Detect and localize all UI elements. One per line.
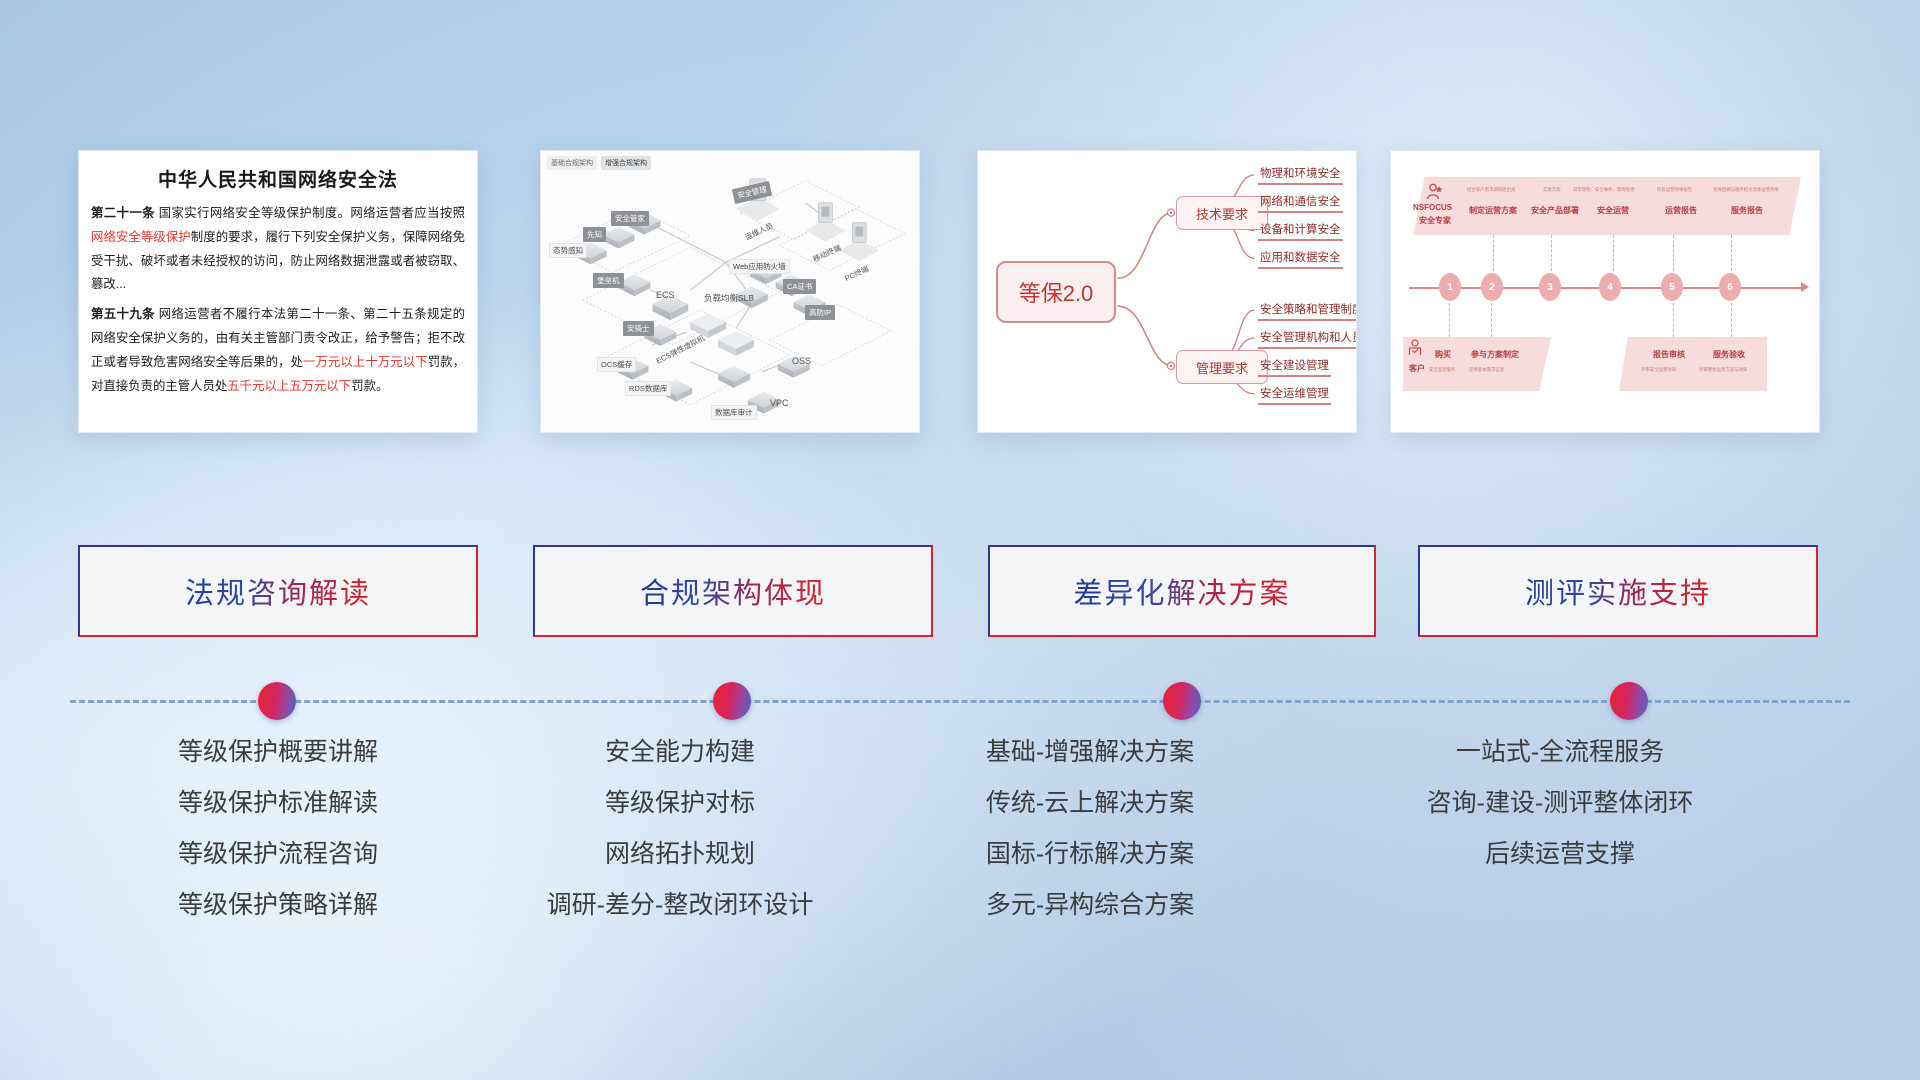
- nsfocus-step-node-3[interactable]: 3: [1539, 273, 1561, 301]
- nsfocus-customer-label: 客户: [1409, 363, 1425, 374]
- detail-column-1: 等级保护概要讲解 等级保护标准解读 等级保护流程咨询 等级保护策略详解: [78, 740, 478, 944]
- mindmap-leaf-network-comm: 网络和通信安全: [1258, 193, 1343, 213]
- law-article-59: 第五十九条 网络运营者不履行本法第二十一条、第二十五条规定的网络安全保护义务的，…: [91, 303, 465, 398]
- detail-item: 安全能力构建: [470, 740, 890, 765]
- nsfocus-bottom-sub-2: 提供基本需求信息: [1469, 367, 1504, 373]
- detail-column-3: 基础-增强解决方案 传统-云上解决方案 国标-行标解决方案 多元-异构综合方案: [880, 740, 1300, 944]
- arch-label-bastion-host: 堡垒机: [593, 273, 624, 288]
- nsfocus-leader-9: [1731, 303, 1732, 337]
- detail-item: 等级保护概要讲解: [78, 740, 478, 765]
- card-cloud-architecture[interactable]: 基础合规架构 增强合规架构: [540, 150, 920, 433]
- nsfocus-top-title-4: 运营报告: [1665, 205, 1697, 216]
- law-article-59-highlight-1: 一万元以上十万元以下: [303, 355, 428, 369]
- timeline: [0, 700, 1920, 704]
- nsfocus-leader-8: [1673, 303, 1674, 337]
- detail-item: 国标-行标解决方案: [880, 842, 1300, 867]
- detail-item: 一站式-全流程服务: [1320, 740, 1800, 765]
- nsfocus-top-sub-5: 总体回顾与服务结论总体运营效果: [1713, 187, 1779, 193]
- nsfocus-leader-1: [1493, 235, 1494, 271]
- arch-label-xianzhi: 先知: [583, 227, 606, 242]
- nsfocus-leader-7: [1491, 303, 1492, 337]
- arch-label-waf: Web应用防火墙: [729, 259, 790, 274]
- timeline-dashed-line: [70, 700, 1850, 703]
- nsfocus-bottom-title-3: 报告审核: [1653, 349, 1685, 360]
- nsfocus-leader-6: [1449, 303, 1450, 337]
- law-article-21-text1: 国家实行网络安全等级保护制度。网络运营者应当按照: [159, 206, 465, 220]
- detail-columns: 等级保护概要讲解 等级保护标准解读 等级保护流程咨询 等级保护策略详解 安全能力…: [0, 740, 1920, 970]
- nsfocus-top-title-5: 服务报告: [1731, 205, 1763, 216]
- law-body: 第二十一条 国家实行网络安全等级保护制度。网络运营者应当按照网络安全等级保护制度…: [79, 202, 477, 415]
- arch-label-anqishi: 安骑士: [623, 321, 654, 336]
- timeline-dot-4[interactable]: [1610, 682, 1648, 720]
- detail-item: 基础-增强解决方案: [880, 740, 1300, 765]
- nsfocus-leader-4: [1673, 235, 1674, 271]
- nsfocus-diagram: NSFOCUS 安全专家 结合客户需求调研后出具 制定运营方案 实施方案 安全产…: [1391, 151, 1819, 432]
- detail-item: 多元-异构综合方案: [880, 893, 1300, 918]
- nsfocus-top-sub-1: 结合客户需求调研后出具: [1467, 187, 1515, 193]
- law-article-59-label: 第五十九条: [91, 307, 155, 321]
- heading-label-3: 差异化解决方案: [1073, 570, 1290, 612]
- heading-box-compliance-architecture[interactable]: 合规架构体现: [533, 545, 933, 637]
- detail-item: 传统-云上解决方案: [880, 791, 1300, 816]
- nsfocus-step-node-1[interactable]: 1: [1439, 273, 1461, 301]
- nsfocus-bottom-sub-1: 安全运营服务: [1429, 367, 1455, 373]
- nsfocus-axis-arrow: [1801, 282, 1809, 292]
- nsfocus-brand: NSFOCUS: [1413, 203, 1452, 212]
- customer-icon: [1407, 339, 1423, 361]
- card-nsfocus-timeline[interactable]: NSFOCUS 安全专家 结合客户需求调研后出具 制定运营方案 实施方案 安全产…: [1390, 150, 1820, 433]
- arch-label-vpc: VPC: [767, 397, 792, 409]
- heading-label-2: 合规架构体现: [640, 570, 826, 612]
- detail-item: 等级保护流程咨询: [78, 842, 478, 867]
- heading-label-4: 测评实施支持: [1525, 570, 1711, 612]
- arch-label-ocs-cache: OCS缓存: [597, 357, 636, 372]
- mindmap-leaf-device-compute: 设备和计算安全: [1258, 221, 1343, 241]
- detail-column-4: 一站式-全流程服务 咨询-建设-测评整体闭环 后续运营支撑: [1320, 740, 1800, 893]
- nsfocus-top-title-3: 安全运营: [1597, 205, 1629, 216]
- timeline-dot-3[interactable]: [1163, 682, 1201, 720]
- detail-item: 网络拓扑规划: [470, 842, 890, 867]
- detail-item: 等级保护策略详解: [78, 893, 478, 918]
- detail-item: 后续运营支撑: [1320, 842, 1800, 867]
- heading-box-assessment-support[interactable]: 测评实施支持: [1418, 545, 1818, 637]
- law-title: 中华人民共和国网络安全法: [79, 151, 477, 202]
- nsfocus-bottom-title-2: 参与方案制定: [1471, 349, 1519, 360]
- timeline-dot-2[interactable]: [713, 682, 751, 720]
- mindmap-leaf-physical-env: 物理和环境安全: [1258, 165, 1343, 185]
- law-article-21-label: 第二十一条: [91, 206, 155, 220]
- nsfocus-step-node-2[interactable]: 2: [1481, 273, 1503, 301]
- card-mindmap-dengbao[interactable]: 等保2.0 技术要求 管理要求 物理和环境安全 网络和通信安全 设备和计算安全 …: [977, 150, 1357, 433]
- nsfocus-bottom-sub-3: 评审安全运营效果: [1641, 367, 1676, 373]
- nsfocus-step-node-6[interactable]: 6: [1719, 273, 1741, 301]
- mindmap-leaf-construction-mgmt: 安全建设管理: [1258, 357, 1331, 377]
- arch-label-rds-database: RDS数据库: [625, 381, 671, 396]
- law-article-21-highlight: 网络安全等级保护: [91, 230, 191, 244]
- arch-label-oss: OSS: [789, 355, 814, 367]
- arch-label-ecs: ECS: [653, 289, 678, 301]
- nsfocus-bottom-sub-4: 评审整体运营方案与效果: [1699, 367, 1747, 373]
- arch-label-database-audit: 数据库审计: [711, 405, 757, 420]
- nsfocus-bottom-title-4: 服务验收: [1713, 349, 1745, 360]
- timeline-dot-1[interactable]: [258, 682, 296, 720]
- law-article-59-text3: 罚款。: [351, 379, 388, 393]
- nsfocus-brand-sub: 安全专家: [1419, 215, 1451, 226]
- mindmap-leaf-org-personnel: 安全管理机构和人员: [1258, 329, 1357, 349]
- arch-label-anti-ddos-ip: 高防IP: [805, 305, 835, 320]
- mindmap-branch-management[interactable]: 管理要求: [1176, 350, 1268, 384]
- nsfocus-step-node-5[interactable]: 5: [1661, 273, 1683, 301]
- detail-item: 调研-差分-整改闭环设计: [470, 893, 890, 918]
- arch-label-situational-awareness: 态势感知: [549, 243, 587, 258]
- heading-boxes-row: 法规咨询解读 合规架构体现 差异化解决方案 测评实施支持: [0, 545, 1920, 655]
- nsfocus-bottom-right-band: [1619, 337, 1767, 391]
- nsfocus-top-title-1: 制定运营方案: [1469, 205, 1517, 216]
- law-article-59-highlight-2: 五千元以上五万元以下: [227, 379, 351, 393]
- arch-label-security-butler: 安全管家: [611, 211, 649, 226]
- arch-label-ca-certificate: CA证书: [783, 279, 816, 294]
- expert-icon: [1425, 183, 1443, 205]
- detail-item: 咨询-建设-测评整体闭环: [1320, 791, 1800, 816]
- nsfocus-leader-2: [1551, 235, 1552, 271]
- nsfocus-step-node-4[interactable]: 4: [1599, 273, 1621, 301]
- nsfocus-top-title-2: 安全产品部署: [1531, 205, 1579, 216]
- architecture-diagram: 基础合规架构 增强合规架构: [541, 151, 919, 432]
- nsfocus-leader-3: [1613, 235, 1614, 271]
- nsfocus-bottom-title-1: 购买: [1435, 349, 1451, 360]
- card-cybersecurity-law[interactable]: 中华人民共和国网络安全法 第二十一条 国家实行网络安全等级保护制度。网络运营者应…: [78, 150, 478, 433]
- detail-item: 等级保护标准解读: [78, 791, 478, 816]
- heading-label-1: 法规咨询解读: [185, 570, 371, 612]
- nsfocus-bottom-left-band: [1403, 337, 1551, 391]
- detail-column-2: 安全能力构建 等级保护对标 网络拓扑规划 调研-差分-整改闭环设计: [470, 740, 890, 944]
- nsfocus-top-sub-4: 阶段运营效果报告: [1657, 187, 1692, 193]
- heading-box-regulation-consulting[interactable]: 法规咨询解读: [78, 545, 478, 637]
- law-article-21: 第二十一条 国家实行网络安全等级保护制度。网络运营者应当按照网络安全等级保护制度…: [91, 202, 465, 297]
- mindmap-leaf-app-data: 应用和数据安全: [1258, 249, 1343, 269]
- mindmap-diagram: 等保2.0 技术要求 管理要求 物理和环境安全 网络和通信安全 设备和计算安全 …: [978, 151, 1356, 432]
- mindmap-leaf-ops-mgmt: 安全运维管理: [1258, 385, 1331, 405]
- detail-item: 等级保护对标: [470, 791, 890, 816]
- mindmap-leaf-policy-system: 安全策略和管理制度: [1258, 301, 1357, 321]
- preview-cards-row: 中华人民共和国网络安全法 第二十一条 国家实行网络安全等级保护制度。网络运营者应…: [0, 150, 1920, 435]
- mindmap-root-node[interactable]: 等保2.0: [996, 261, 1116, 323]
- heading-box-differentiated-solution[interactable]: 差异化解决方案: [988, 545, 1376, 637]
- mindmap-branch-technical[interactable]: 技术要求: [1176, 196, 1268, 230]
- nsfocus-leader-5: [1731, 235, 1732, 271]
- slide-canvas: 中华人民共和国网络安全法 第二十一条 国家实行网络安全等级保护制度。网络运营者应…: [0, 0, 1920, 1080]
- nsfocus-top-sub-3: 日常巡检、安全事件、需周处理: [1573, 187, 1634, 193]
- nsfocus-top-sub-2: 实施方案: [1543, 187, 1561, 193]
- arch-label-slb: 负载均衡SLB: [701, 291, 757, 305]
